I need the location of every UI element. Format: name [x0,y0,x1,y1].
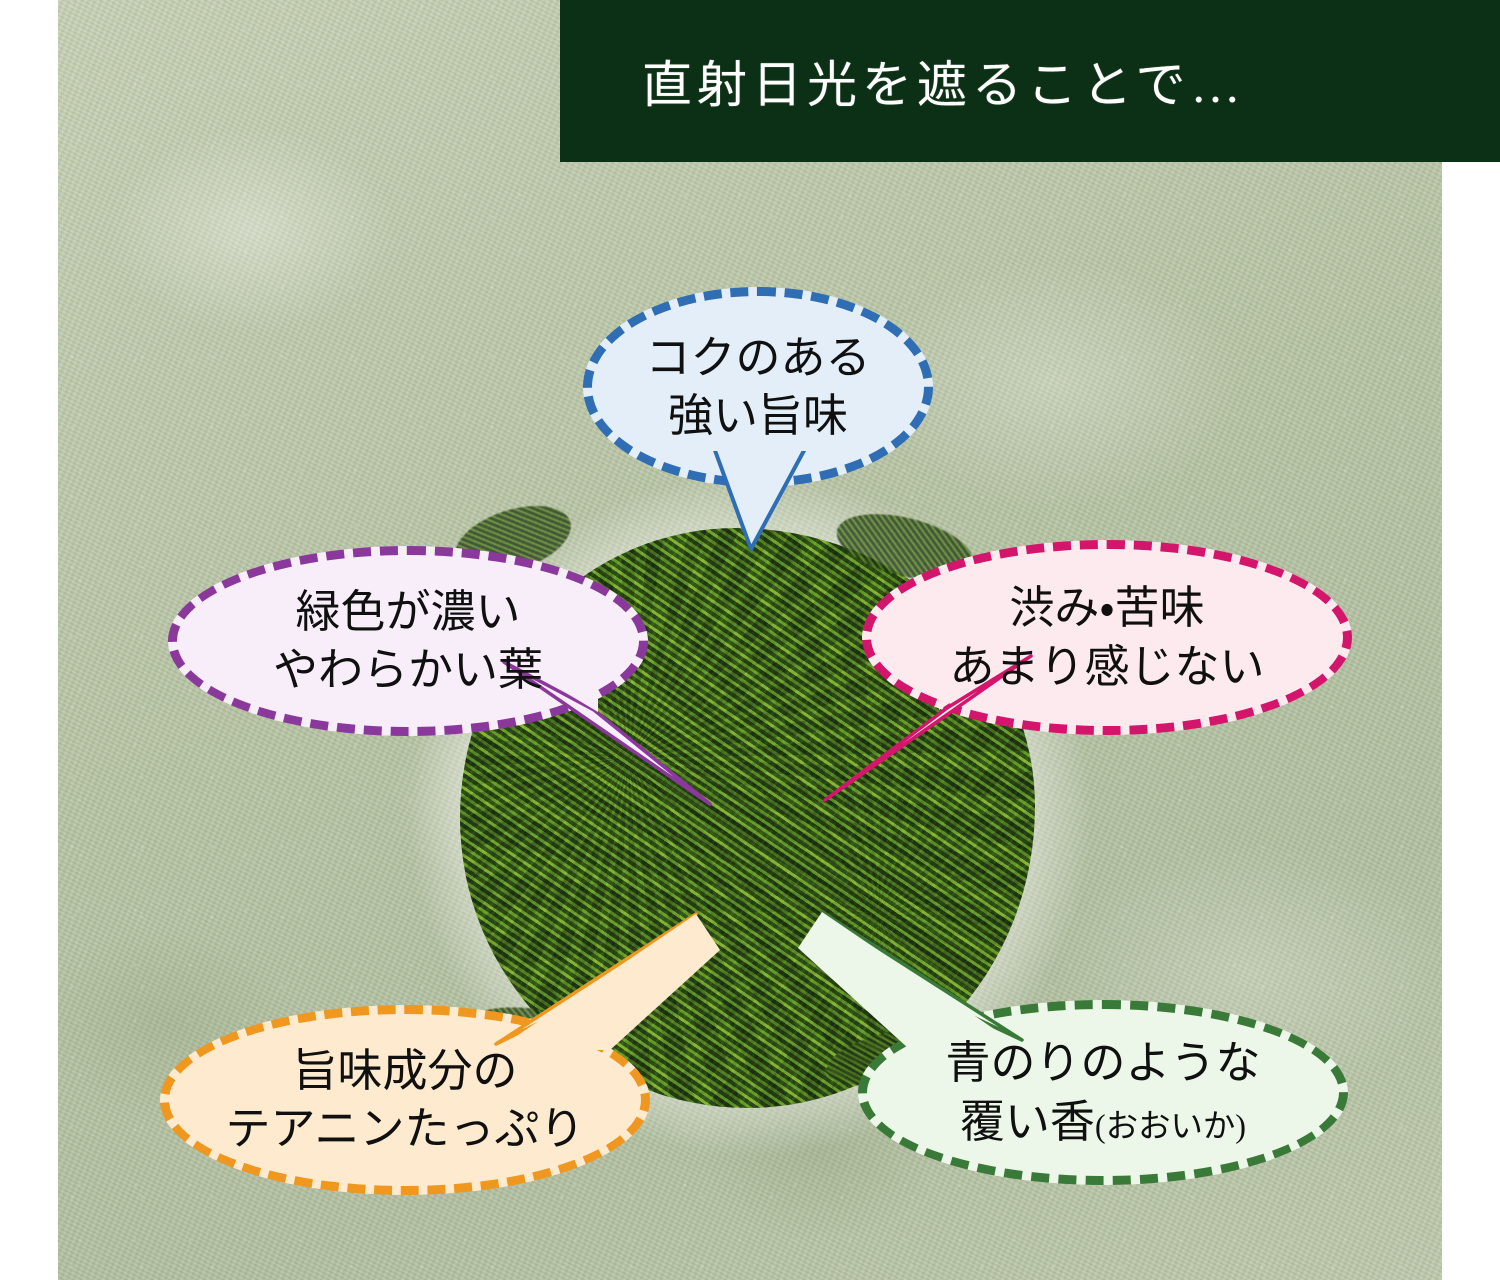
callout-theanine-tail [490,910,720,1050]
infographic-canvas: 直射日光を遮ることで… コクのある 強い旨味 [0,0,1500,1280]
page-title: 直射日光を遮ることで… [642,45,1246,117]
callout-leaf-text: 緑色が濃い やわらかい葉 [273,583,543,700]
callout-aroma[interactable]: 青のりのような 覆い香(おおいか) [858,1000,1348,1185]
callout-umami-tail [703,437,823,557]
callout-leaf[interactable]: 緑色が濃い やわらかい葉 [168,546,648,736]
callout-taste[interactable]: 渋み・苦味 あまり感じない [862,540,1352,735]
callout-aroma-line2: 覆い香(おおいか) [945,1093,1260,1152]
callout-umami[interactable]: コクのある 強い旨味 [583,287,933,487]
callout-theanine-text: 旨味成分の テアニンたっぷり [225,1042,584,1159]
callout-aroma-tail [798,908,1028,1048]
header-banner: 直射日光を遮ることで… [560,0,1500,162]
callout-umami-text: コクのある 強い旨味 [645,329,870,446]
callout-theanine[interactable]: 旨味成分の テアニンたっぷり [160,1005,650,1195]
callout-aroma-text: 青のりのような 覆い香(おおいか) [945,1034,1260,1151]
callout-taste-text: 渋み・苦味 あまり感じない [949,579,1264,696]
